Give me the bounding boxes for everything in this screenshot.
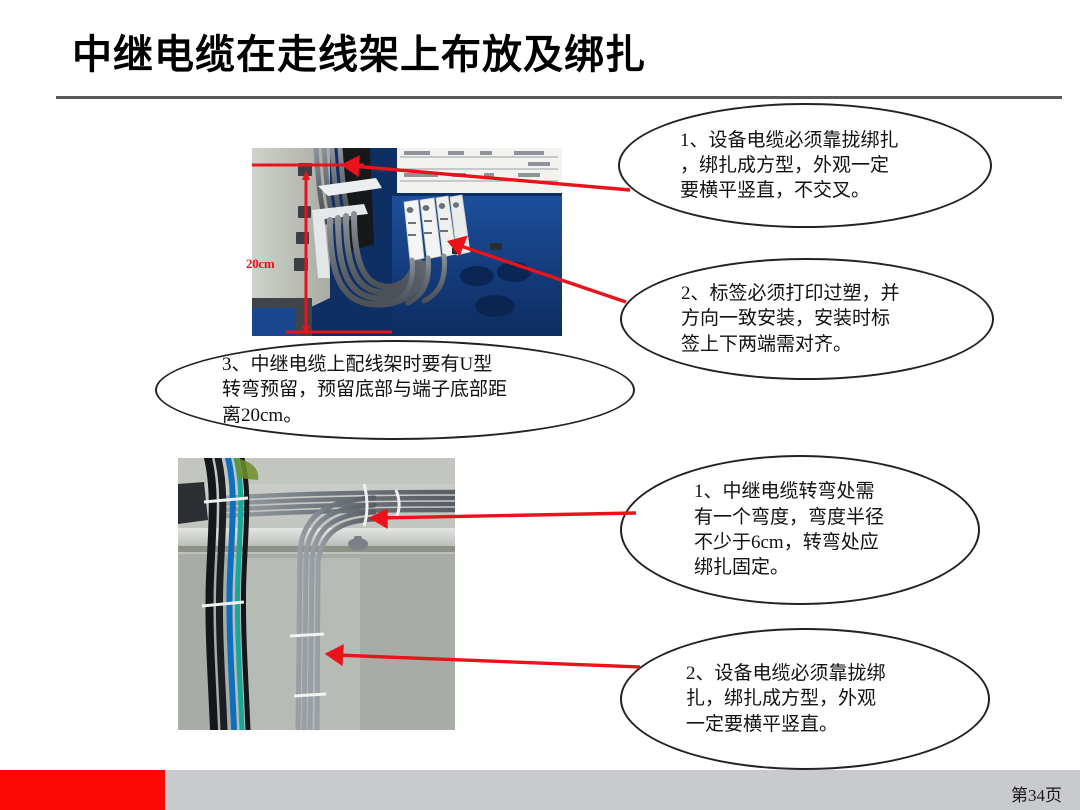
callout-bubble-4[interactable]: 1、中继电缆转弯处需 有一个弯度，弯度半径 不少于6cm，转弯处应 绑扎固定。 xyxy=(620,455,980,605)
title-divider xyxy=(56,96,1062,99)
callout-text-1: 1、设备电缆必须靠拢绑扎 ，绑扎成方型，外观一定 要横平竖直，不交叉。 xyxy=(680,128,938,204)
photo-cable-tray-corner-bend xyxy=(178,458,455,730)
callout-text-3: 3、中继电缆上配线架时要有U型 转弯预留，预留底部与端子底部距 离20cm。 xyxy=(222,352,590,428)
photo-cable-rack-u-bend xyxy=(252,148,562,336)
callout-text-5: 2、设备电缆必须靠拢绑 扎，绑扎成方型，外观 一定要横平竖直。 xyxy=(686,661,934,737)
callout-bubble-3[interactable]: 3、中继电缆上配线架时要有U型 转弯预留，预留底部与端子底部距 离20cm。 xyxy=(155,340,635,440)
dimension-label-20cm: 20cm xyxy=(246,256,274,272)
callout-bubble-5[interactable]: 2、设备电缆必须靠拢绑 扎，绑扎成方型，外观 一定要横平竖直。 xyxy=(620,628,990,770)
slide-root: 中继电缆在走线架上布放及绑扎 xyxy=(0,0,1080,810)
page-number: 第34页 xyxy=(1011,781,1062,806)
callout-bubble-2[interactable]: 2、标签必须打印过塑，并 方向一致安装，安装时标 签上下两端需对齐。 xyxy=(620,258,994,380)
callout-text-2: 2、标签必须打印过塑，并 方向一致安装，安装时标 签上下两端需对齐。 xyxy=(681,281,943,357)
footer-accent-block xyxy=(0,770,165,810)
callout-text-4: 1、中继电缆转弯处需 有一个弯度，弯度半径 不少于6cm，转弯处应 绑扎固定。 xyxy=(694,479,922,580)
footer-bar xyxy=(165,770,1080,810)
page-title: 中继电缆在走线架上布放及绑扎 xyxy=(72,22,646,80)
callout-bubble-1[interactable]: 1、设备电缆必须靠拢绑扎 ，绑扎成方型，外观一定 要横平竖直，不交叉。 xyxy=(618,103,992,228)
